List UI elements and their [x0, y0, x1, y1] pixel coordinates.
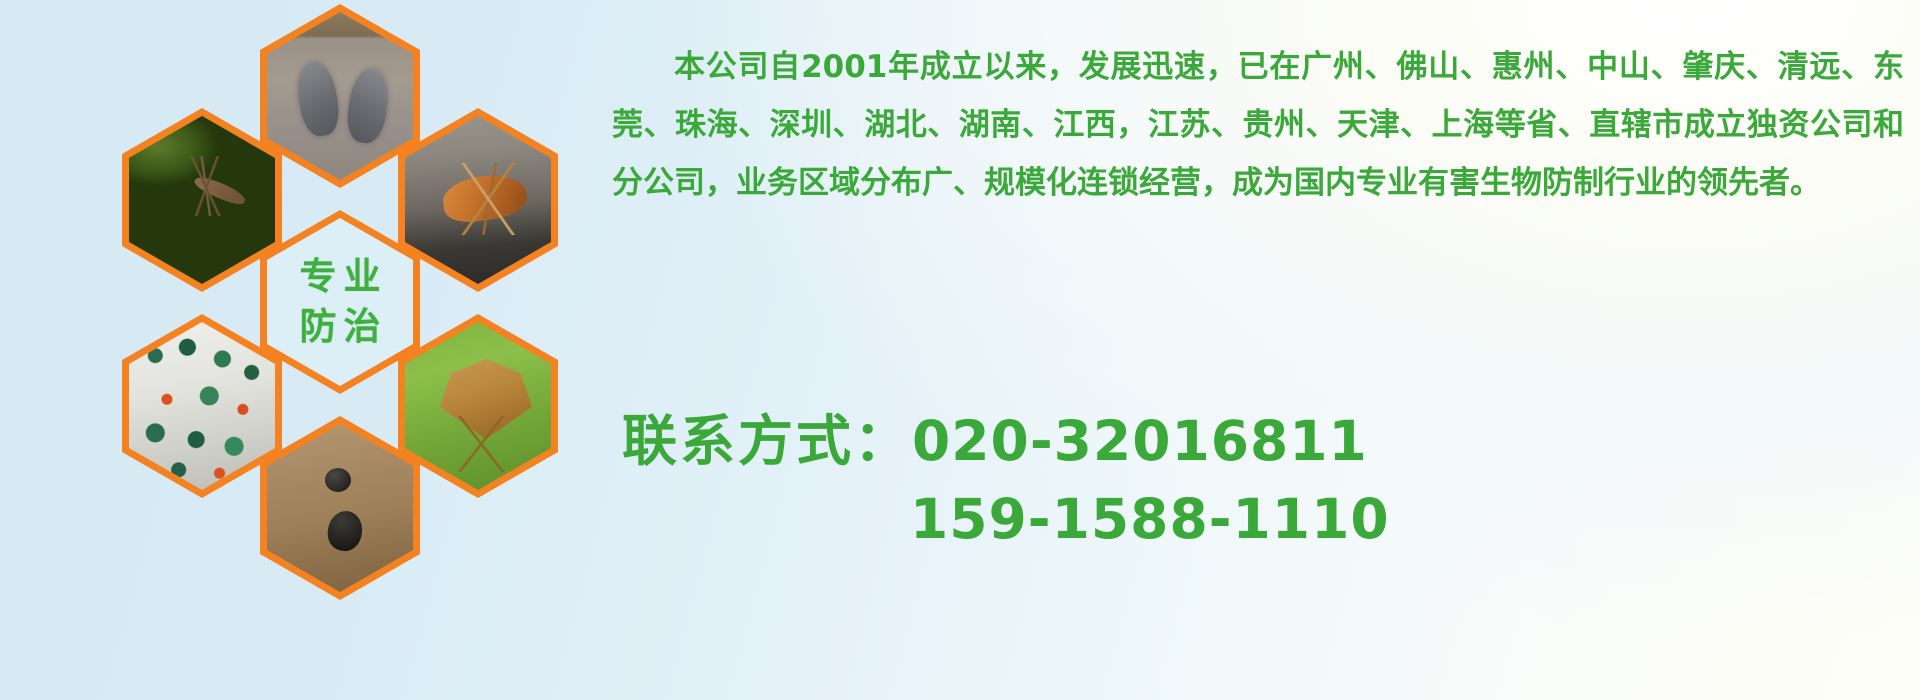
cockroach-image — [405, 116, 551, 284]
hex-tile-ant[interactable] — [260, 416, 420, 600]
hex-tile-flies-inner — [129, 322, 275, 490]
hex-tile-flies[interactable] — [122, 314, 282, 498]
flies-image — [129, 322, 275, 490]
hex-tile-mosquito[interactable] — [122, 108, 282, 292]
hexagon-image-cluster: 专业 防治 — [90, 0, 590, 576]
company-description-block: 本公司自2001年成立以来，发展迅速，已在广州、佛山、惠州、中山、肇庆、清远、东… — [612, 38, 1904, 212]
hex-tile-rats-inner — [267, 12, 413, 180]
phone-secondary[interactable]: 159-1588-1110 — [910, 487, 1390, 551]
hex-tile-ant-inner — [267, 424, 413, 592]
hex-tile-cockroach[interactable] — [398, 108, 558, 292]
slogan-line-1: 专业 — [293, 255, 388, 299]
hex-tile-center-slogan: 专业 防治 — [260, 210, 420, 394]
pest-control-banner: 专业 防治 本公司自2001年成立以来，发展迅速，已在广州、佛山、惠州、中山、肇… — [0, 0, 1920, 700]
contact-label: 联系方式： — [622, 409, 912, 473]
hex-tile-rats[interactable] — [260, 4, 420, 188]
hex-tile-center-inner: 专业 防治 — [267, 218, 413, 386]
company-description-paragraph: 本公司自2001年成立以来，发展迅速，已在广州、佛山、惠州、中山、肇庆、清远、东… — [612, 38, 1904, 212]
ant-image — [267, 424, 413, 592]
hex-tile-mosquito-inner — [129, 116, 275, 284]
slogan-text: 专业 防治 — [267, 218, 413, 386]
contact-line-primary: 联系方式：020-32016811 — [622, 402, 1390, 480]
phone-primary[interactable]: 020-32016811 — [912, 409, 1368, 473]
hex-tile-cockroach-inner — [405, 116, 551, 284]
rats-image — [267, 12, 413, 180]
hex-tile-stink-bug[interactable] — [398, 314, 558, 498]
mosquito-image — [129, 116, 275, 284]
contact-line-secondary: 159-1588-1110 — [622, 480, 1390, 558]
slogan-line-2: 防治 — [293, 305, 388, 349]
contact-block: 联系方式：020-32016811 159-1588-1110 — [622, 402, 1390, 558]
hex-tile-stink-bug-inner — [405, 322, 551, 490]
stink-bug-image — [405, 322, 551, 490]
